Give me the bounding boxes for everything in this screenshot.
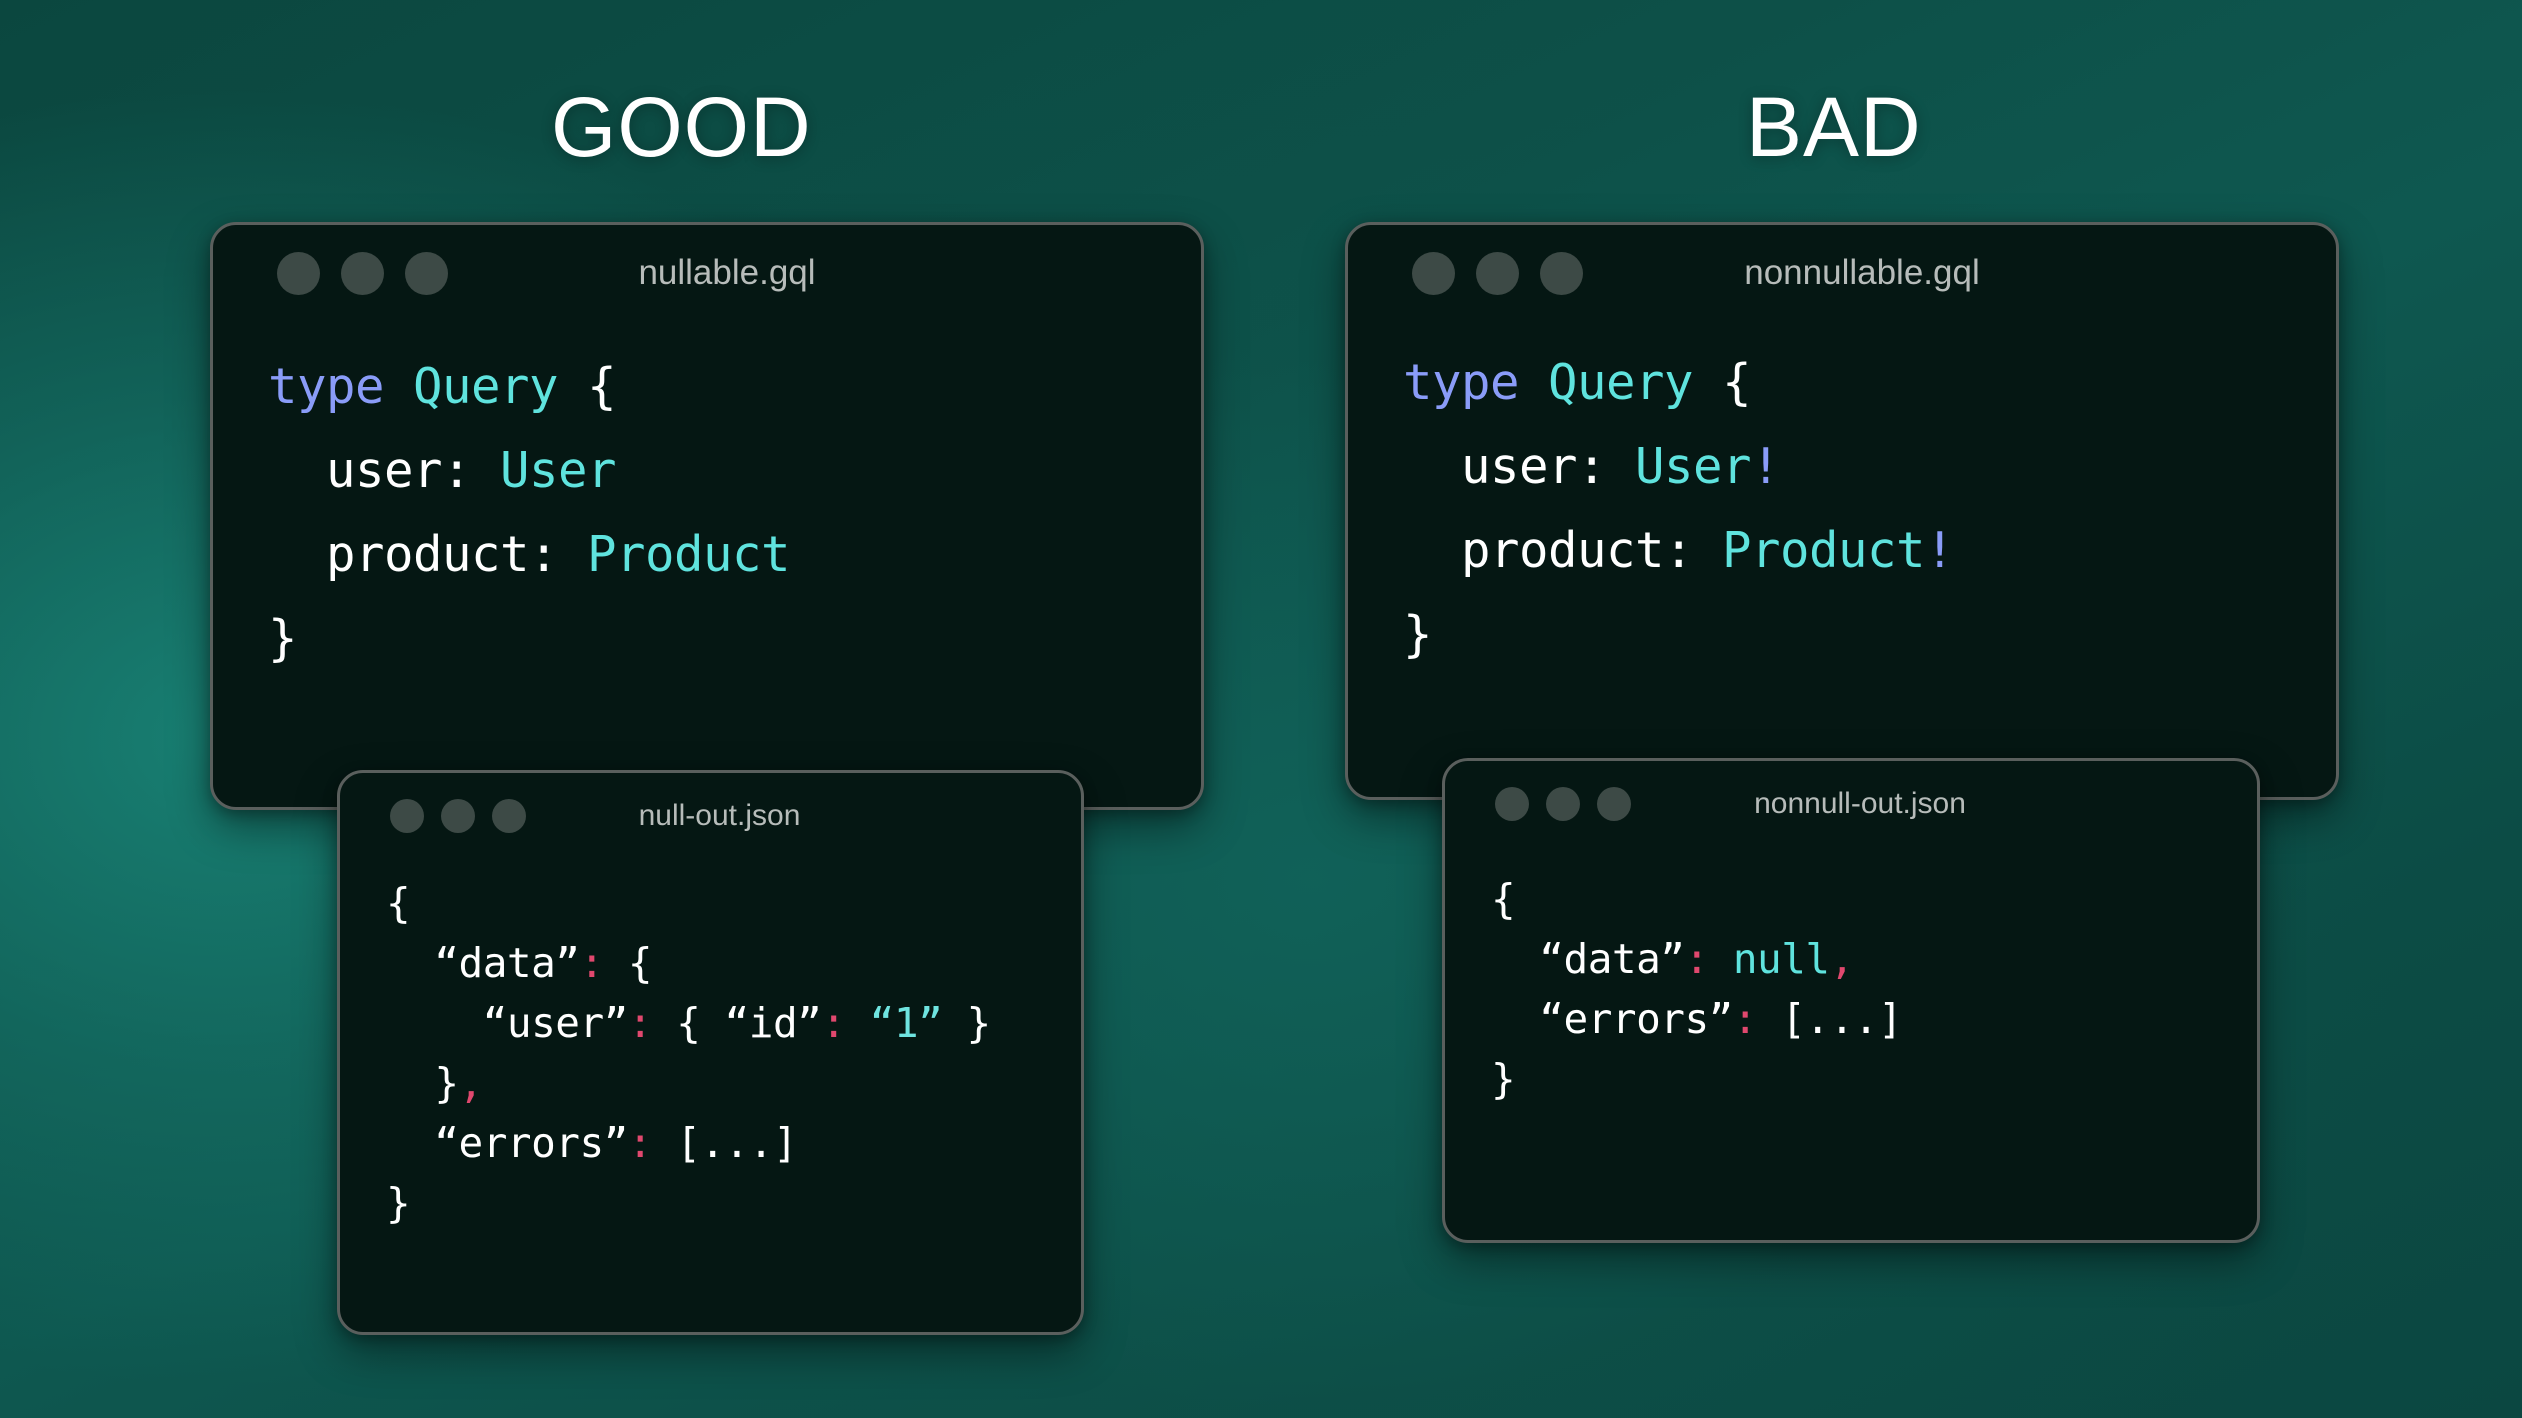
code-line: } [386,1173,1081,1233]
window-titlebar: nonnullable.gql [1348,225,2336,321]
slide-canvas: GOOD nullable.gql type Query { user: Use… [0,0,2522,1418]
code-window-nonnullable-gql[interactable]: nonnullable.gql type Query { user: User!… [1345,222,2339,800]
minimize-dot-icon[interactable] [1546,787,1580,821]
code-block: { “data”: null, “errors”: [...]} [1445,847,2257,1109]
code-token: } [1491,1055,1515,1103]
close-dot-icon[interactable] [1412,252,1455,295]
code-token: } [268,610,297,667]
code-token: type [268,358,384,415]
maximize-dot-icon[interactable] [405,252,448,295]
code-token [384,358,413,415]
window-traffic-lights [390,799,526,833]
code-token: user: [1403,438,1635,495]
minimize-dot-icon[interactable] [441,799,475,833]
code-token [1519,354,1548,411]
code-token: “data” [386,939,579,987]
code-token: , [459,1059,483,1107]
code-token: : [1684,935,1708,983]
code-block: type Query { user: User product: Product… [213,321,1201,681]
code-token [558,358,587,415]
code-token [1709,935,1733,983]
maximize-dot-icon[interactable] [1597,787,1631,821]
window-titlebar: null-out.json [340,773,1081,859]
code-line: product: Product [268,513,1201,597]
column-heading-good: GOOD [551,85,812,169]
code-token [1693,354,1722,411]
code-token: { [604,939,652,987]
code-line: { [386,873,1081,933]
code-token: “id” [725,999,822,1047]
code-token: } [386,1059,459,1107]
code-window-null-out-json[interactable]: null-out.json { “data”: { “user”: { “id”… [337,770,1084,1335]
code-line: { [1491,869,2257,929]
code-token: { [652,999,725,1047]
code-token: “user” [386,999,628,1047]
maximize-dot-icon[interactable] [1540,252,1583,295]
code-line: } [1403,593,2336,677]
code-token: { [386,879,410,927]
code-token: “errors” [386,1119,628,1167]
window-traffic-lights [1412,252,1583,295]
code-token: type [1403,354,1519,411]
code-line: } [1491,1049,2257,1109]
minimize-dot-icon[interactable] [341,252,384,295]
code-line: user: User! [1403,425,2336,509]
code-token: { [587,358,616,415]
window-traffic-lights [277,252,448,295]
window-traffic-lights [1495,787,1631,821]
code-token: User [1635,438,1751,495]
code-token: } [942,999,990,1047]
code-token: product: [1403,522,1722,579]
code-token: User [500,442,616,499]
code-line: type Query { [1403,341,2336,425]
code-token: : [821,999,845,1047]
close-dot-icon[interactable] [390,799,424,833]
code-token: : [579,939,603,987]
code-token: “data” [1491,935,1684,983]
code-block: type Query { user: User! product: Produc… [1348,321,2336,677]
code-window-nullable-gql[interactable]: nullable.gql type Query { user: User pro… [210,222,1204,810]
code-token: Query [413,358,558,415]
code-token: “1” [870,999,943,1047]
close-dot-icon[interactable] [1495,787,1529,821]
code-line: }, [386,1053,1081,1113]
close-dot-icon[interactable] [277,252,320,295]
code-token: , [1830,935,1854,983]
code-token: { [1722,354,1751,411]
code-token: Query [1548,354,1693,411]
code-token: : [628,999,652,1047]
code-token: product: [268,526,587,583]
minimize-dot-icon[interactable] [1476,252,1519,295]
code-token: : [628,1119,652,1167]
code-token: ! [1751,438,1780,495]
code-line: user: User [268,429,1201,513]
code-token: ! [1925,522,1954,579]
code-line: type Query { [268,345,1201,429]
window-titlebar: nonnull-out.json [1445,761,2257,847]
code-token: user: [268,442,500,499]
code-token [846,999,870,1047]
code-line: “data”: null, [1491,929,2257,989]
code-line: } [268,597,1201,681]
code-line: “data”: { [386,933,1081,993]
code-line: product: Product! [1403,509,2336,593]
code-token: Product [1722,522,1925,579]
code-window-nonnull-out-json[interactable]: nonnull-out.json { “data”: null, “errors… [1442,758,2260,1243]
code-token: } [386,1179,410,1227]
code-token: [...] [1757,995,1902,1043]
code-token: } [1403,606,1432,663]
code-token: “errors” [1491,995,1733,1043]
code-line: “errors”: [...] [386,1113,1081,1173]
maximize-dot-icon[interactable] [492,799,526,833]
code-token: { [1491,875,1515,923]
code-token: Product [587,526,790,583]
code-line: “user”: { “id”: “1” } [386,993,1081,1053]
column-heading-bad: BAD [1746,85,1922,169]
code-line: “errors”: [...] [1491,989,2257,1049]
code-token: null [1733,935,1830,983]
code-token: : [1733,995,1757,1043]
code-token: [...] [652,1119,797,1167]
code-block: { “data”: { “user”: { “id”: “1” } }, “er… [340,859,1081,1233]
window-titlebar: nullable.gql [213,225,1201,321]
